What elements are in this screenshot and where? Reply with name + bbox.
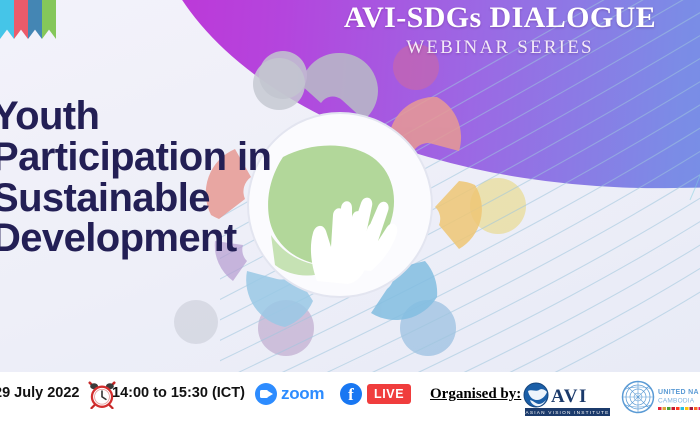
svg-text:AVI: AVI [551,386,588,407]
ribbon-red [14,0,28,39]
event-time: 14:00 to 15:30 (ICT) [112,385,245,401]
ribbon-blue [28,0,42,39]
facebook-icon: f [340,383,362,405]
event-date: 29 July 2022 [0,385,79,401]
footer-bar: 29 July 2022 14:00 to 15:30 (ICT) zoom f… [0,372,700,430]
facebook-live-logo[interactable]: f LIVE [340,383,411,405]
title-line-1: Youth [0,96,372,137]
live-badge: LIVE [367,384,411,404]
un-cambodia-logo: UNITED NA CAMBODIA [620,379,700,421]
zoom-label: zoom [281,384,324,404]
webinar-poster: AVI-SDGs DIALOGUE WEBINAR SERIES Youth P… [0,0,700,430]
un-line-2: CAMBODIA [658,398,695,405]
facebook-glyph: f [340,384,362,405]
sdg-color-strip [658,407,700,410]
header-banner-text: AVI-SDGs DIALOGUE WEBINAR SERIES [300,2,700,59]
avi-logo: AVI ASIAN VISION INSTITUTE [523,380,615,420]
title-line-2: Participation in [0,137,372,178]
organised-by-label: Organised by: [430,386,521,403]
ribbon-group [0,0,56,39]
banner-title: AVI-SDGs DIALOGUE [300,2,700,34]
ribbon-green [42,0,56,39]
ribbon-cyan [0,0,14,39]
avi-tagline: ASIAN VISION INSTITUTE [526,410,610,416]
title-line-3: Sustainable [0,178,372,219]
title-line-4: Development [0,218,372,259]
page-title: Youth Participation in Sustainable Devel… [0,96,372,259]
zoom-camera-icon [255,383,277,405]
zoom-logo[interactable]: zoom [255,383,324,405]
banner-subtitle: WEBINAR SERIES [300,37,700,59]
un-line-1: UNITED NA [658,389,699,396]
